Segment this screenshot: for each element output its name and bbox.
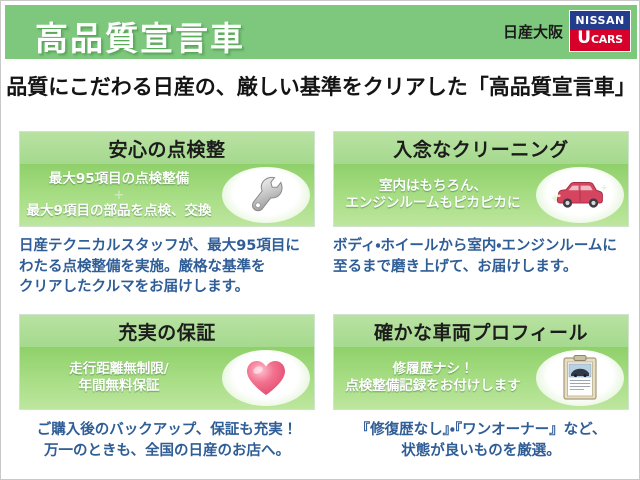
- ucars-cars-letters: CARS: [591, 34, 623, 45]
- panel-card: 入念なクリーニング 室内はもちろん、 エンジンルームもピカピカに: [333, 131, 629, 227]
- icon-oval-backdrop: [222, 167, 310, 223]
- panel-subtext-line1: 最大95項目の点検整備: [49, 171, 189, 188]
- panel-subtext-line2: 年間無料保証: [79, 378, 160, 395]
- panel-subtext-line1: 走行距離無制限/: [69, 361, 168, 378]
- panel-description: ボディ・ホイールから室内・エンジンルームに 至るまで磨き上げて、お届けします。: [333, 236, 629, 277]
- panel-subtext-line2: 最大9項目の部品を点検、交換: [27, 203, 212, 220]
- nissan-ucars-logo: NISSAN UCARS: [569, 10, 631, 52]
- feature-panel-vehicle-profile: 確かな車両プロフィール 修履歴ナシ！ 点検整備記録をお付けします: [333, 314, 629, 461]
- clipboard-record-icon: [560, 354, 600, 402]
- panel-icon-slot: [218, 347, 314, 409]
- panel-title: 入念なクリーニング: [334, 132, 628, 164]
- panel-card: 安心の点検整 最大95項目の点検整備 + 最大9項目の部品を点検、交換: [19, 131, 315, 227]
- panel-subtext: 走行距離無制限/ 年間無料保証: [20, 347, 218, 409]
- feature-panel-inspection: 安心の点検整 最大95項目の点検整備 + 最大9項目の部品を点検、交換: [19, 131, 315, 298]
- promo-poster: 高品質宣言車 日産大阪 NISSAN UCARS 品質にこだわる日産の、厳しい基…: [0, 0, 640, 480]
- page-title: 高品質宣言車: [35, 12, 245, 60]
- icon-oval-backdrop: [536, 167, 624, 223]
- panel-body: 修履歴ナシ！ 点検整備記録をお付けします: [334, 347, 628, 409]
- red-car-icon: [549, 175, 611, 215]
- panel-subtext: 最大95項目の点検整備 + 最大9項目の部品を点検、交換: [20, 164, 218, 226]
- ucars-u-letter: U: [577, 30, 591, 47]
- panel-subtext-line1: 室内はもちろん、: [379, 178, 487, 195]
- panel-card: 充実の保証 走行距離無制限/ 年間無料保証: [19, 314, 315, 410]
- ucars-wordmark: UCARS: [570, 30, 630, 51]
- panel-title: 充実の保証: [20, 315, 314, 347]
- panel-subtext-line1: 修履歴ナシ！: [393, 361, 474, 378]
- panel-card: 確かな車両プロフィール 修履歴ナシ！ 点検整備記録をお付けします: [333, 314, 629, 410]
- panel-title: 安心の点検整: [20, 132, 314, 164]
- panel-icon-slot: [532, 164, 628, 226]
- panel-subtext: 室内はもちろん、 エンジンルームもピカピカに: [334, 164, 532, 226]
- panel-icon-slot: [218, 164, 314, 226]
- panel-body: 室内はもちろん、 エンジンルームもピカピカに: [334, 164, 628, 226]
- header-bar: 高品質宣言車 日産大阪 NISSAN UCARS: [5, 5, 637, 59]
- wrench-icon: [243, 172, 289, 218]
- feature-panel-cleaning: 入念なクリーニング 室内はもちろん、 エンジンルームもピカピカに: [333, 131, 629, 277]
- dealer-name: 日産大阪: [503, 21, 563, 42]
- heart-icon: [244, 357, 288, 399]
- headline: 品質にこだわる日産の、厳しい基準をクリアした「高品質宣言車」: [1, 71, 640, 101]
- icon-oval-backdrop: [536, 350, 624, 406]
- panel-icon-slot: [532, 347, 628, 409]
- plus-sign: +: [114, 189, 125, 202]
- feature-panel-warranty: 充実の保証 走行距離無制限/ 年間無料保証: [19, 314, 315, 461]
- panel-description: 日産テクニカルスタッフが、最大95項目に わたる点検整備を実施。厳格な基準を ク…: [19, 236, 315, 298]
- panel-subtext-line2: 点検整備記録をお付けします: [345, 378, 521, 395]
- icon-oval-backdrop: [222, 350, 310, 406]
- panel-subtext: 修履歴ナシ！ 点検整備記録をお付けします: [334, 347, 532, 409]
- panel-title: 確かな車両プロフィール: [334, 315, 628, 347]
- brand-block: 日産大阪 NISSAN UCARS: [503, 10, 631, 52]
- panel-subtext-line2: エンジンルームもピカピカに: [345, 195, 520, 212]
- panel-body: 最大95項目の点検整備 + 最大9項目の部品を点検、交換: [20, 164, 314, 226]
- panel-description: ご購入後のバックアップ、保証も充実！ 万一のときも、全国の日産のお店へ。: [19, 420, 315, 461]
- panel-description: 『修復歴なし』・『ワンオーナー』など、 状態が良いものを厳選。: [333, 420, 629, 461]
- panel-body: 走行距離無制限/ 年間無料保証: [20, 347, 314, 409]
- nissan-wordmark: NISSAN: [570, 11, 630, 30]
